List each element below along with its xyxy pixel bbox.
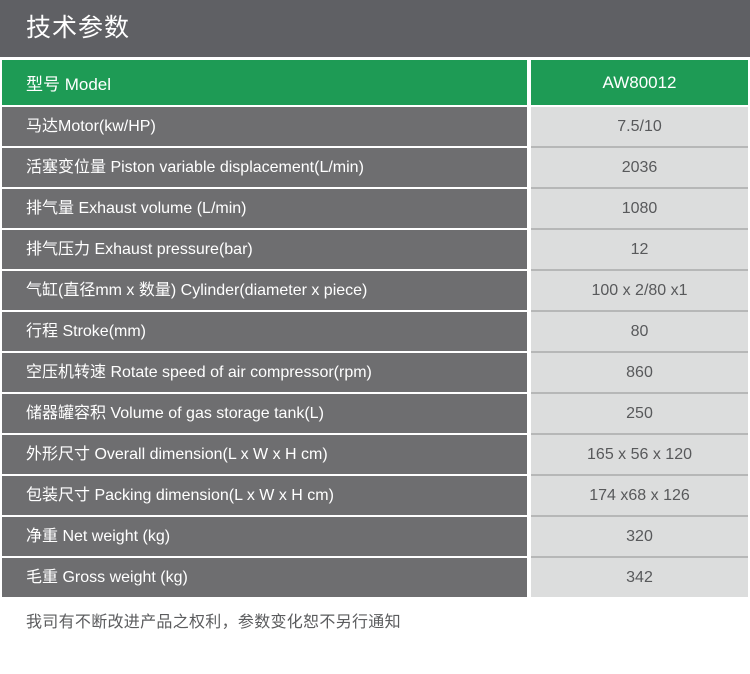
row-label: 活塞变位量 Piston variable displacement(L/min… (2, 146, 527, 187)
table-row: 外形尺寸 Overall dimension(L x W x H cm) 165… (2, 433, 748, 474)
row-value: 7.5/10 (531, 105, 748, 146)
row-label: 包装尺寸 Packing dimension(L x W x H cm) (2, 474, 527, 515)
table-row: 储器罐容积 Volume of gas storage tank(L) 250 (2, 392, 748, 433)
row-label: 马达Motor(kw/HP) (2, 105, 527, 146)
table-row: 气缸(直径mm x 数量) Cylinder(diameter x piece)… (2, 269, 748, 310)
table-row: 空压机转速 Rotate speed of air compressor(rpm… (2, 351, 748, 392)
row-label: 排气量 Exhaust volume (L/min) (2, 187, 527, 228)
row-label: 毛重 Gross weight (kg) (2, 556, 527, 597)
row-label: 净重 Net weight (kg) (2, 515, 527, 556)
spec-sheet: 技术参数 型号 Model AW80012 马达Motor(kw/HP) 7.5… (0, 0, 750, 674)
row-value: 174 x68 x 126 (531, 474, 748, 515)
table-row: 毛重 Gross weight (kg) 342 (2, 556, 748, 597)
table-row: 行程 Stroke(mm) 80 (2, 310, 748, 351)
disclaimer-note: 我司有不断改进产品之权利，参数变化恕不另行通知 (26, 612, 401, 634)
row-value: 250 (531, 392, 748, 433)
page-title: 技术参数 (0, 16, 130, 41)
row-value: 1080 (531, 187, 748, 228)
row-label: 气缸(直径mm x 数量) Cylinder(diameter x piece) (2, 269, 527, 310)
row-label: 空压机转速 Rotate speed of air compressor(rpm… (2, 351, 527, 392)
row-label: 行程 Stroke(mm) (2, 310, 527, 351)
row-label: 外形尺寸 Overall dimension(L x W x H cm) (2, 433, 527, 474)
table-row: 包装尺寸 Packing dimension(L x W x H cm) 174… (2, 474, 748, 515)
column-header-model-label: 型号 Model (2, 60, 527, 105)
row-value: 80 (531, 310, 748, 351)
table-row: 活塞变位量 Piston variable displacement(L/min… (2, 146, 748, 187)
table-body: 型号 Model AW80012 马达Motor(kw/HP) 7.5/10 活… (2, 60, 748, 597)
row-value: 320 (531, 515, 748, 556)
row-value: 2036 (531, 146, 748, 187)
table-row: 净重 Net weight (kg) 320 (2, 515, 748, 556)
row-value: 100 x 2/80 x1 (531, 269, 748, 310)
table-row: 马达Motor(kw/HP) 7.5/10 (2, 105, 748, 146)
table-row: 排气压力 Exhaust pressure(bar) 12 (2, 228, 748, 269)
row-value: 860 (531, 351, 748, 392)
row-value: 12 (531, 228, 748, 269)
row-value: 342 (531, 556, 748, 597)
table-header-row: 型号 Model AW80012 (2, 60, 748, 105)
row-label: 排气压力 Exhaust pressure(bar) (2, 228, 527, 269)
column-header-model-value: AW80012 (531, 60, 748, 105)
row-label: 储器罐容积 Volume of gas storage tank(L) (2, 392, 527, 433)
table-row: 排气量 Exhaust volume (L/min) 1080 (2, 187, 748, 228)
specifications-table: 型号 Model AW80012 马达Motor(kw/HP) 7.5/10 活… (2, 60, 748, 597)
row-value: 165 x 56 x 120 (531, 433, 748, 474)
title-bar: 技术参数 (0, 0, 750, 57)
